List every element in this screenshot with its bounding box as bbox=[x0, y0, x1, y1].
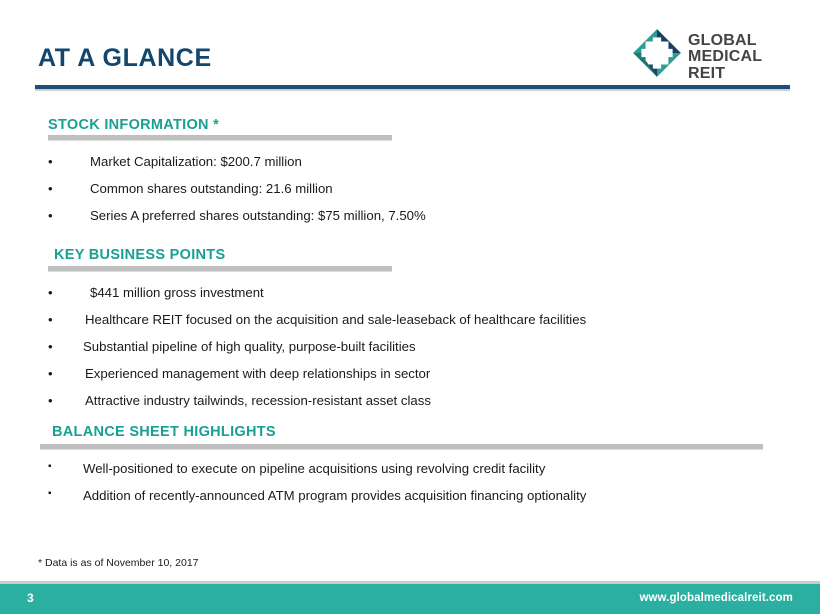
section-heading-stock-information: STOCK INFORMATION * bbox=[48, 117, 219, 133]
bullet-marker: • bbox=[48, 366, 78, 381]
website-url[interactable]: www.globalmedicalreit.com bbox=[639, 592, 793, 604]
list-item: • Experienced management with deep relat… bbox=[48, 366, 430, 381]
logo-wordmark: GLOBAL MEDICAL REIT bbox=[688, 33, 795, 82]
footnote: * Data is as of November 10, 2017 bbox=[38, 557, 199, 569]
list-item-text: Well-positioned to execute on pipeline a… bbox=[83, 461, 545, 476]
bullet-marker: ▪ bbox=[48, 461, 78, 472]
list-item: • Attractive industry tailwinds, recessi… bbox=[48, 393, 431, 408]
logo-line-2: MEDICAL REIT bbox=[688, 49, 795, 82]
page-number: 3 bbox=[27, 591, 34, 605]
list-item-text: Addition of recently-announced ATM progr… bbox=[83, 488, 586, 503]
slide-at-a-glance: AT A GLANCE GLOBAL MEDICAL REIT STOCK IN… bbox=[0, 0, 820, 614]
bullet-marker: • bbox=[48, 285, 78, 300]
list-item: • Series A preferred shares outstanding:… bbox=[48, 208, 426, 223]
section-divider-balance-sheet-highlights bbox=[40, 444, 763, 449]
list-item-text: Experienced management with deep relatio… bbox=[85, 366, 430, 381]
list-item-text: Market Capitalization: $200.7 million bbox=[90, 154, 302, 169]
bullet-marker: • bbox=[48, 393, 78, 408]
company-logo: GLOBAL MEDICAL REIT bbox=[630, 27, 795, 81]
list-item: • $441 million gross investment bbox=[48, 285, 264, 300]
page-title: AT A GLANCE bbox=[38, 44, 212, 73]
list-item-text: Common shares outstanding: 21.6 million bbox=[90, 181, 333, 196]
list-item: • Substantial pipeline of high quality, … bbox=[48, 339, 416, 354]
list-item: ▪ Addition of recently-announced ATM pro… bbox=[48, 488, 586, 503]
bullet-marker: • bbox=[48, 181, 78, 196]
list-item-text: Healthcare REIT focused on the acquisiti… bbox=[85, 312, 586, 327]
list-item-text: $441 million gross investment bbox=[90, 285, 264, 300]
pinwheel-cross-icon bbox=[630, 27, 684, 79]
list-item: • Market Capitalization: $200.7 million bbox=[48, 154, 302, 169]
list-item: ▪ Well-positioned to execute on pipeline… bbox=[48, 461, 545, 476]
bullet-marker: • bbox=[48, 208, 78, 223]
section-divider-key-business-points bbox=[48, 266, 392, 271]
bullet-marker: • bbox=[48, 339, 78, 354]
bullet-marker: • bbox=[48, 154, 78, 169]
section-divider-stock-information bbox=[48, 135, 392, 140]
list-item: • Common shares outstanding: 21.6 millio… bbox=[48, 181, 333, 196]
section-heading-key-business-points: KEY BUSINESS POINTS bbox=[54, 247, 225, 263]
title-divider bbox=[35, 85, 790, 89]
bullet-marker: • bbox=[48, 312, 78, 327]
footer-bar: 3 www.globalmedicalreit.com bbox=[0, 584, 820, 614]
bullet-marker: ▪ bbox=[48, 488, 78, 499]
list-item-text: Substantial pipeline of high quality, pu… bbox=[83, 339, 416, 354]
list-item-text: Series A preferred shares outstanding: $… bbox=[90, 208, 426, 223]
section-heading-balance-sheet-highlights: BALANCE SHEET HIGHLIGHTS bbox=[52, 424, 276, 440]
logo-line-1: GLOBAL bbox=[688, 33, 795, 49]
list-item-text: Attractive industry tailwinds, recession… bbox=[85, 393, 431, 408]
list-item: • Healthcare REIT focused on the acquisi… bbox=[48, 312, 586, 327]
